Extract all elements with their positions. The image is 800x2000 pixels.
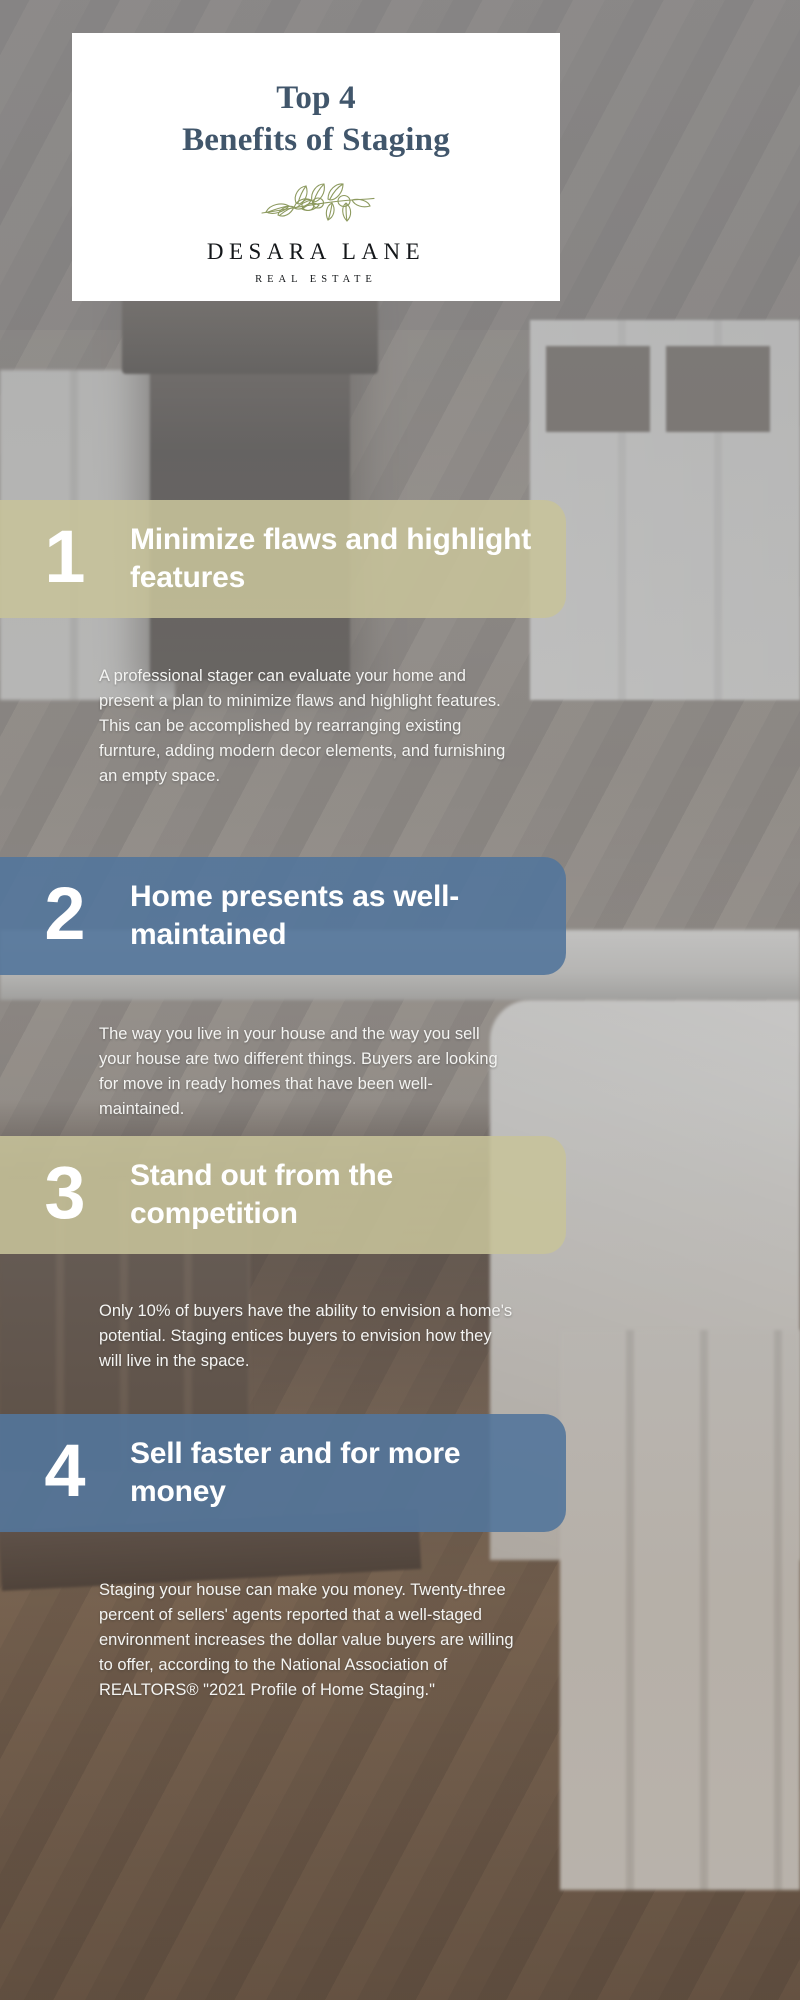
section-band-3: 3 Stand out from the competition [0,1136,566,1254]
section-body-1: A professional stager can evaluate your … [99,664,514,789]
header-card: Top 4 Benefits of Staging [72,33,560,301]
brand-name: DESARA LANE [207,239,425,265]
page-title-line-2: Benefits of Staging [182,119,450,161]
section-number-4: 4 [0,1434,130,1512]
section-title-3: Stand out from the competition [130,1157,566,1234]
page-title-line-1: Top 4 [182,77,450,119]
infographic-content: Top 4 Benefits of Staging [0,0,800,2000]
page-title: Top 4 Benefits of Staging [182,77,450,161]
section-band-2: 2 Home presents as well-maintained [0,857,566,975]
section-number-3: 3 [0,1156,130,1234]
section-body-2: The way you live in your house and the w… [99,1022,514,1122]
section-body-3: Only 10% of buyers have the ability to e… [99,1299,514,1374]
section-number-2: 2 [0,877,130,955]
section-band-4: 4 Sell faster and for more money [0,1414,566,1532]
brand-tagline: REAL ESTATE [255,274,377,285]
section-title-4: Sell faster and for more money [130,1435,566,1512]
section-band-1: 1 Minimize flaws and highlight features [0,500,566,618]
section-title-2: Home presents as well-maintained [130,878,566,955]
olive-branch-icon [256,179,376,225]
section-body-4: Staging your house can make you money. T… [99,1578,514,1703]
section-number-1: 1 [0,520,130,598]
section-title-1: Minimize flaws and highlight features [130,521,566,598]
